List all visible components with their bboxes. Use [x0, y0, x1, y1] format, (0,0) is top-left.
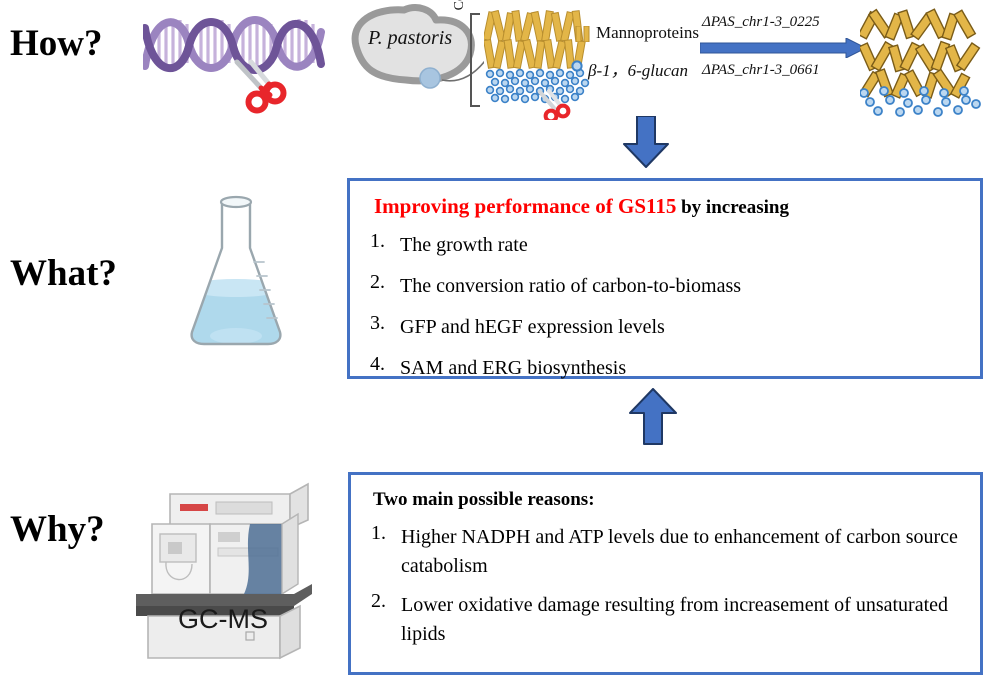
- mannoprotein-bars-icon: [574, 26, 592, 42]
- list-item-text: The conversion ratio of carbon-to-biomas…: [400, 272, 966, 301]
- list-item: 2. The conversion ratio of carbon-to-bio…: [370, 272, 966, 301]
- cell-wall-label: Cell Wall: [452, 0, 468, 20]
- list-item-number: 3.: [370, 313, 400, 333]
- list-item: 4. SAM and ERG biosynthesis: [370, 354, 966, 383]
- list-item-number: 2.: [371, 591, 401, 611]
- what-panel: Improving performance of GS115 by increa…: [347, 178, 983, 379]
- why-panel-list: 1. Higher NADPH and ATP levels due to en…: [371, 523, 966, 659]
- question-label-how: How?: [10, 22, 103, 65]
- list-item-number: 1.: [371, 523, 401, 543]
- down-arrow-icon: [622, 116, 670, 168]
- list-item-number: 1.: [370, 231, 400, 251]
- list-item: 2. Lower oxidative damage resulting from…: [371, 591, 966, 649]
- knockout-gene-bottom-label: ΔPAS_chr1-3_0661: [702, 62, 820, 79]
- what-title-highlight: Improving performance of GS115: [374, 194, 676, 218]
- list-item-text: The growth rate: [400, 231, 966, 260]
- list-item-text: Lower oxidative damage resulting from in…: [401, 591, 966, 649]
- list-item: 1. The growth rate: [370, 231, 966, 260]
- list-item-number: 2.: [370, 272, 400, 292]
- figure-canvas: How? What? Why?: [0, 0, 988, 679]
- legend-glucan-label: β-1，6-glucan: [588, 56, 688, 81]
- what-panel-title: Improving performance of GS115 by increa…: [374, 194, 789, 219]
- why-panel-title: Two main possible reasons:: [373, 489, 595, 511]
- gcms-label: GC-MS: [178, 604, 268, 635]
- knockout-gene-top-label: ΔPAS_chr1-3_0225: [702, 14, 820, 31]
- list-item: 1. Higher NADPH and ATP levels due to en…: [371, 523, 966, 581]
- list-item-text: SAM and ERG biosynthesis: [400, 354, 966, 383]
- list-item: 3. GFP and hEGF expression levels: [370, 313, 966, 342]
- erlenmeyer-flask-icon: [176, 192, 296, 352]
- what-panel-list: 1. The growth rate 2. The conversion rat…: [370, 231, 966, 395]
- yeast-species-label: P. pastoris: [368, 27, 452, 50]
- glucan-circle-icon: [571, 60, 583, 72]
- transformation-right-arrow-icon: [700, 38, 866, 58]
- cell-wall-bracket: [468, 12, 484, 112]
- why-panel: Two main possible reasons: 1. Higher NAD…: [348, 472, 983, 675]
- budding-site-dot: [420, 68, 440, 88]
- list-item-text: Higher NADPH and ATP levels due to enhan…: [401, 523, 966, 581]
- list-item-text: GFP and hEGF expression levels: [400, 313, 966, 342]
- what-title-rest: by increasing: [676, 197, 789, 218]
- cell-wall-schematic: P. pastoris Cell Wall: [344, 0, 988, 120]
- gc-ms-instrument-icon: [122, 466, 327, 666]
- list-item-number: 4.: [370, 354, 400, 374]
- question-label-what: What?: [10, 252, 117, 295]
- legend-mannoproteins-label: Mannoproteins: [596, 23, 699, 43]
- disrupted-cell-wall-illustration: [860, 4, 984, 118]
- up-arrow-icon: [628, 388, 678, 446]
- question-label-why: Why?: [10, 508, 105, 551]
- dna-helix-with-scissors-icon: [143, 4, 326, 116]
